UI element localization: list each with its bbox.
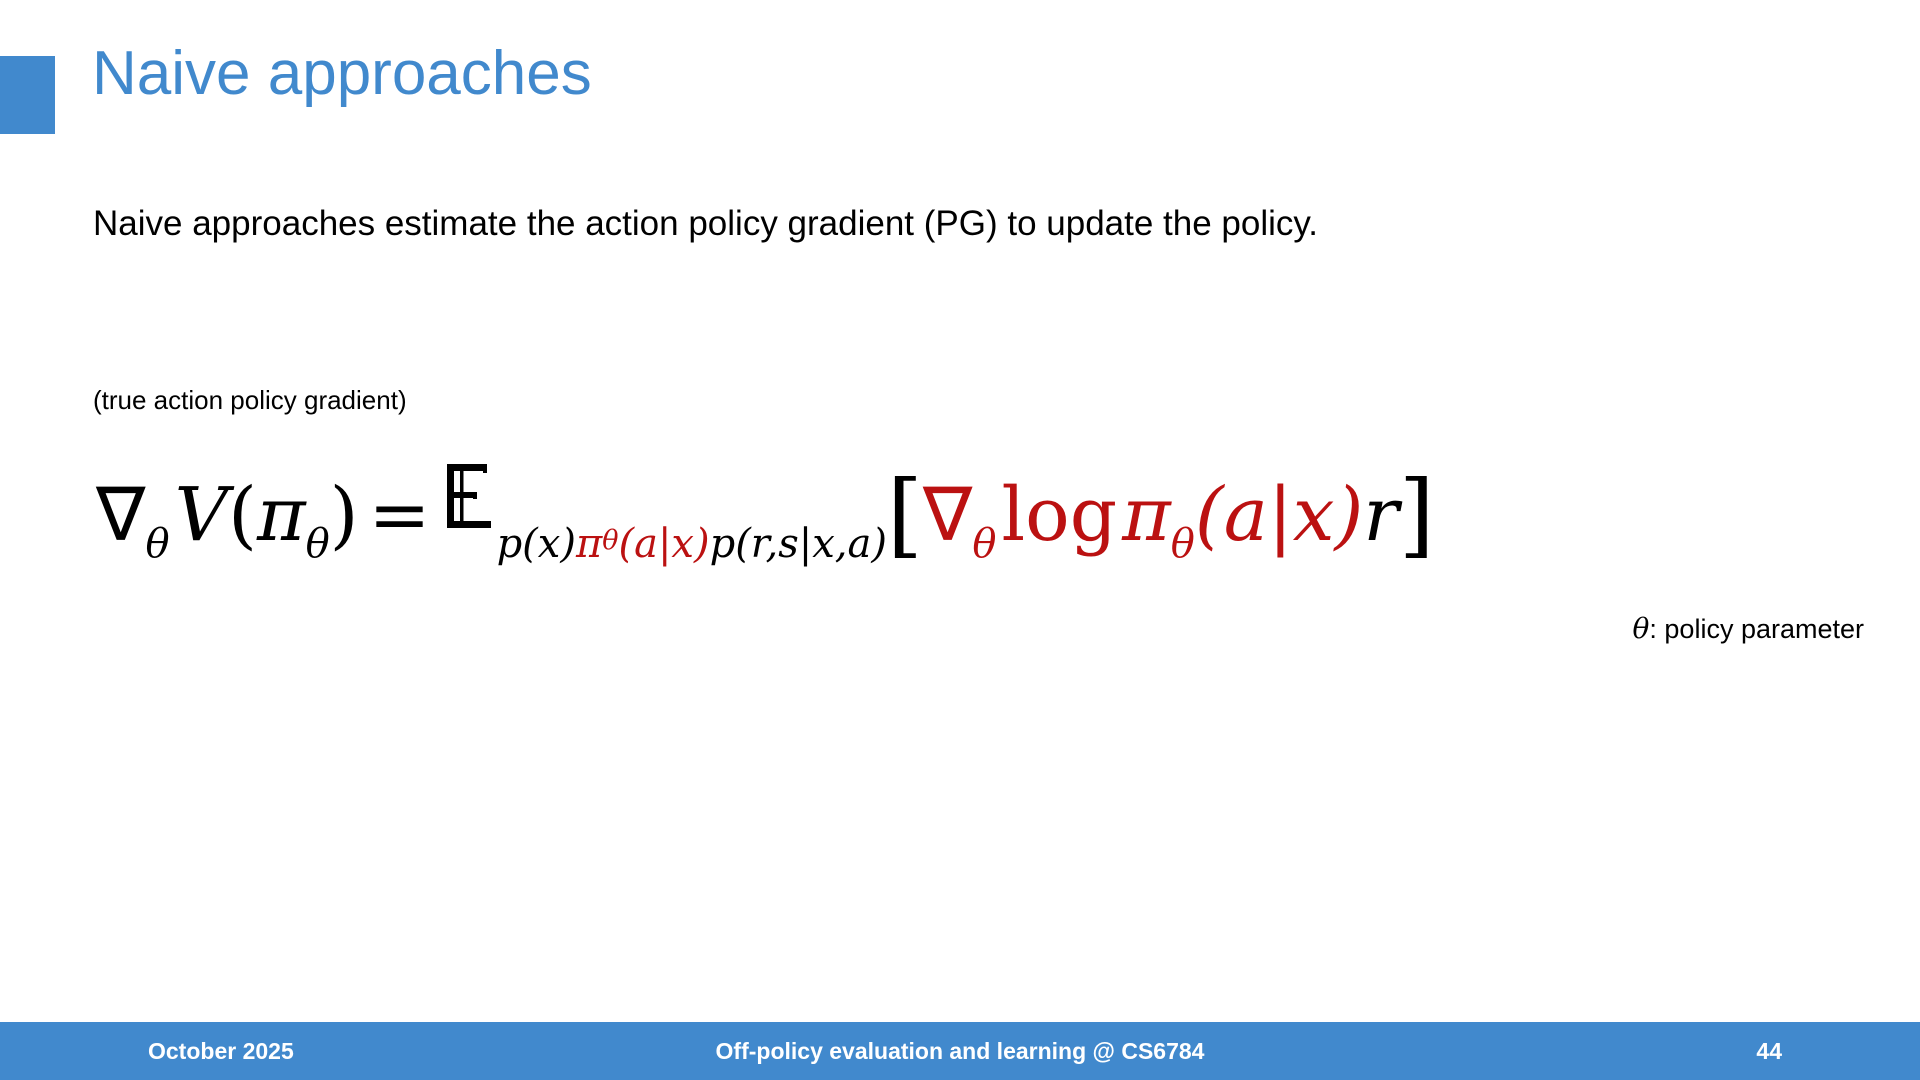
footer-page-number: 44 bbox=[1756, 1022, 1782, 1080]
expectation-subscript-context: p(x) bbox=[497, 521, 576, 567]
parameter-legend-note: θ: policy parameter bbox=[1633, 612, 1864, 646]
expectation-operator-icon bbox=[441, 458, 497, 534]
equation-equals-sign: = bbox=[369, 472, 431, 558]
equation-policy-args-rhs: (a|x) bbox=[1195, 472, 1364, 558]
equation-nabla-rhs: ∇ bbox=[923, 472, 973, 558]
equation-nabla-rhs-subscript: θ bbox=[972, 521, 996, 567]
equation-bracket-open: [ bbox=[887, 461, 923, 568]
expectation-subscript-policy-args: (a|x) bbox=[619, 521, 710, 567]
formula-caption: (true action policy gradient) bbox=[93, 385, 407, 416]
page-title: Naive approaches bbox=[92, 41, 592, 106]
footer-bar: October 2025 Off-policy evaluation and l… bbox=[0, 1022, 1920, 1080]
body-paragraph: Naive approaches estimate the action pol… bbox=[93, 203, 1318, 245]
theta-symbol: θ bbox=[1633, 612, 1650, 645]
equation-nabla-lhs-subscript: θ bbox=[146, 521, 170, 567]
equation-policy-pi-lhs-subscript: θ bbox=[306, 521, 330, 567]
equation-policy-pi-rhs: π bbox=[1122, 472, 1171, 558]
equation-value-function: V bbox=[175, 472, 228, 558]
equation-lhs-open-paren: ( bbox=[228, 472, 257, 558]
policy-gradient-equation: ∇ θ V ( π θ ) = bbox=[96, 455, 1876, 580]
equation-bracket-close: ] bbox=[1399, 461, 1435, 568]
title-accent-bar bbox=[0, 56, 55, 134]
expectation-subscript-policy-theta: θ bbox=[602, 525, 618, 556]
slide-canvas: Naive approaches Naive approaches estima… bbox=[0, 0, 1920, 1080]
equation-policy-pi-lhs: π bbox=[257, 472, 306, 558]
parameter-note-text: : policy parameter bbox=[1649, 614, 1864, 644]
expectation-subscript-policy-pi: π bbox=[576, 521, 602, 567]
footer-course-title: Off-policy evaluation and learning @ CS6… bbox=[0, 1022, 1920, 1080]
equation-nabla-lhs: ∇ bbox=[96, 472, 146, 558]
equation-log-operator: log bbox=[1002, 472, 1118, 558]
expectation-subscript-reward-model: p(r,s|x,a) bbox=[710, 521, 887, 567]
equation-lhs-close-paren: ) bbox=[330, 472, 359, 558]
equation-reward-variable: r bbox=[1363, 472, 1398, 558]
equation-policy-pi-rhs-subscript: θ bbox=[1171, 521, 1195, 567]
